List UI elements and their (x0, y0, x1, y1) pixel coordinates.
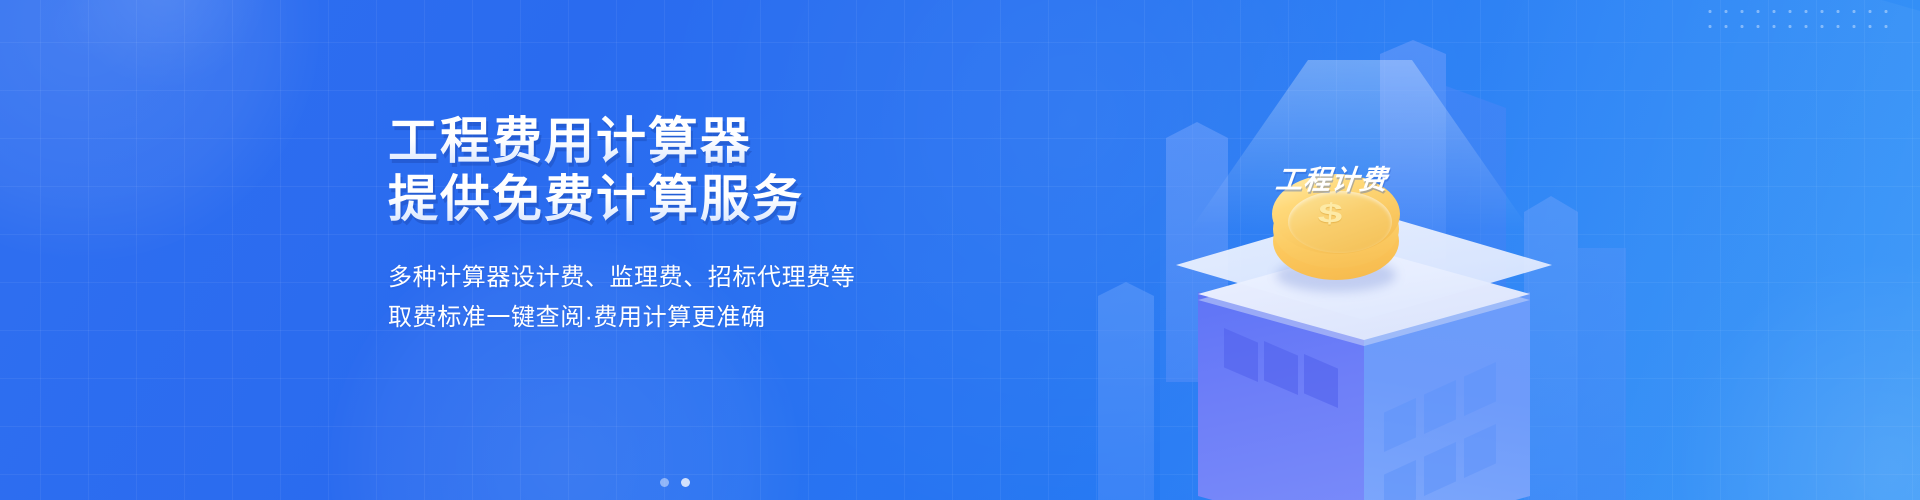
building-window (1264, 341, 1298, 395)
dollar-sign-icon: $ (1317, 197, 1344, 232)
background-tower-left-low (1098, 282, 1154, 500)
building-window (1424, 442, 1456, 496)
banner-subtitle-line-1: 多种计算器设计费、监理费、招标代理费等 (388, 258, 1028, 298)
banner-copy: 工程费用计算器 提供免费计算服务 多种计算器设计费、监理费、招标代理费等 取费标… (388, 112, 1028, 338)
carousel-dot-1[interactable] (660, 478, 669, 487)
illustration-label: 工程计费 (1274, 158, 1390, 197)
banner-headline-line-2: 提供免费计算服务 (388, 170, 1028, 228)
carousel-dot-2[interactable] (681, 478, 690, 487)
building-window (1464, 362, 1496, 416)
hero-banner: 工程费用计算器 提供免费计算服务 多种计算器设计费、监理费、招标代理费等 取费标… (0, 0, 1920, 500)
background-tower-right (1524, 196, 1578, 500)
background-tower-far-right (1578, 248, 1626, 500)
building-window (1304, 354, 1338, 408)
banner-headline-line-1: 工程费用计算器 (388, 112, 1028, 170)
carousel-indicators[interactable] (660, 478, 690, 487)
building-window (1384, 398, 1416, 452)
building-window (1384, 460, 1416, 500)
banner-subtitle-line-2: 取费标准一键查阅·费用计算更准确 (388, 298, 1028, 338)
building-window (1424, 380, 1456, 434)
banner-subtitle: 多种计算器设计费、监理费、招标代理费等 取费标准一键查阅·费用计算更准确 (388, 258, 1028, 338)
building-window (1224, 328, 1258, 382)
banner-illustration: $ 工程计费 (1080, 0, 1640, 500)
building-window (1464, 424, 1496, 478)
dot-matrix-decoration (1702, 4, 1892, 38)
